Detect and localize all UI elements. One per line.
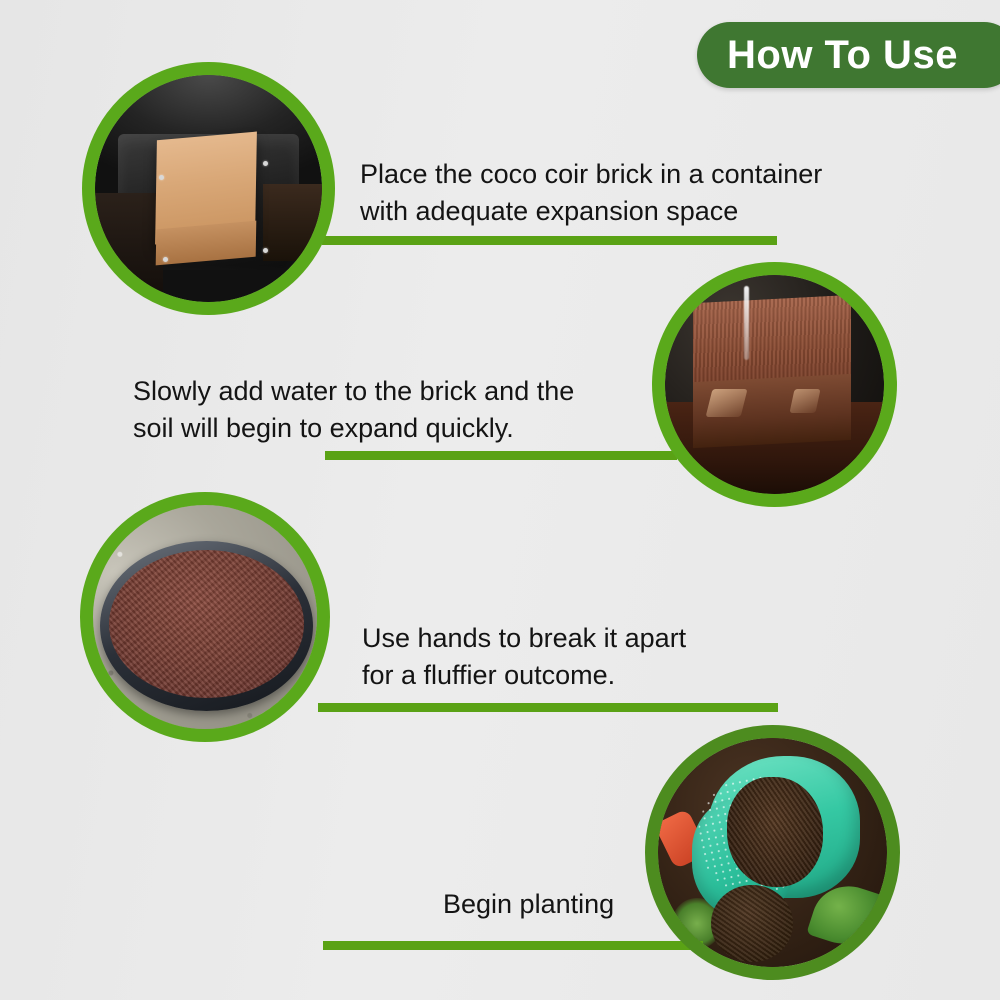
step-4-image bbox=[658, 738, 887, 967]
step-2-connector-line bbox=[325, 451, 677, 460]
water-sheen bbox=[705, 389, 747, 417]
step-3-connector-line bbox=[318, 703, 778, 712]
how-to-use-infographic: How To Use Place the coco coir brick in … bbox=[0, 0, 1000, 1000]
soil-patch-left bbox=[95, 193, 163, 302]
header-banner: How To Use bbox=[697, 22, 1000, 88]
water-stream bbox=[744, 286, 749, 360]
photo-background bbox=[93, 505, 317, 729]
step-4-caption: Begin planting bbox=[443, 886, 783, 923]
step-2-caption: Slowly add water to the brick and the so… bbox=[133, 373, 653, 446]
step-3-image bbox=[93, 505, 317, 729]
step-3-caption: Use hands to break it apart for a fluffi… bbox=[362, 620, 782, 693]
water-sheen bbox=[789, 389, 820, 413]
step-1-connector-line bbox=[322, 236, 777, 245]
tray-screw bbox=[159, 175, 164, 180]
photo-background bbox=[665, 275, 884, 494]
photo-background bbox=[658, 738, 887, 967]
step-1-caption: Place the coco coir brick in a container… bbox=[360, 156, 880, 229]
tray-screw bbox=[163, 257, 168, 262]
step-1-image bbox=[95, 75, 322, 302]
step-4-connector-line bbox=[323, 941, 703, 950]
tray-screw bbox=[263, 248, 268, 253]
page-title: How To Use bbox=[727, 35, 958, 75]
held-potting-soil bbox=[727, 777, 823, 887]
step-2-image bbox=[665, 275, 884, 494]
loose-coir-soil bbox=[109, 550, 304, 698]
soil-patch-right bbox=[263, 184, 322, 261]
photo-background bbox=[95, 75, 322, 302]
